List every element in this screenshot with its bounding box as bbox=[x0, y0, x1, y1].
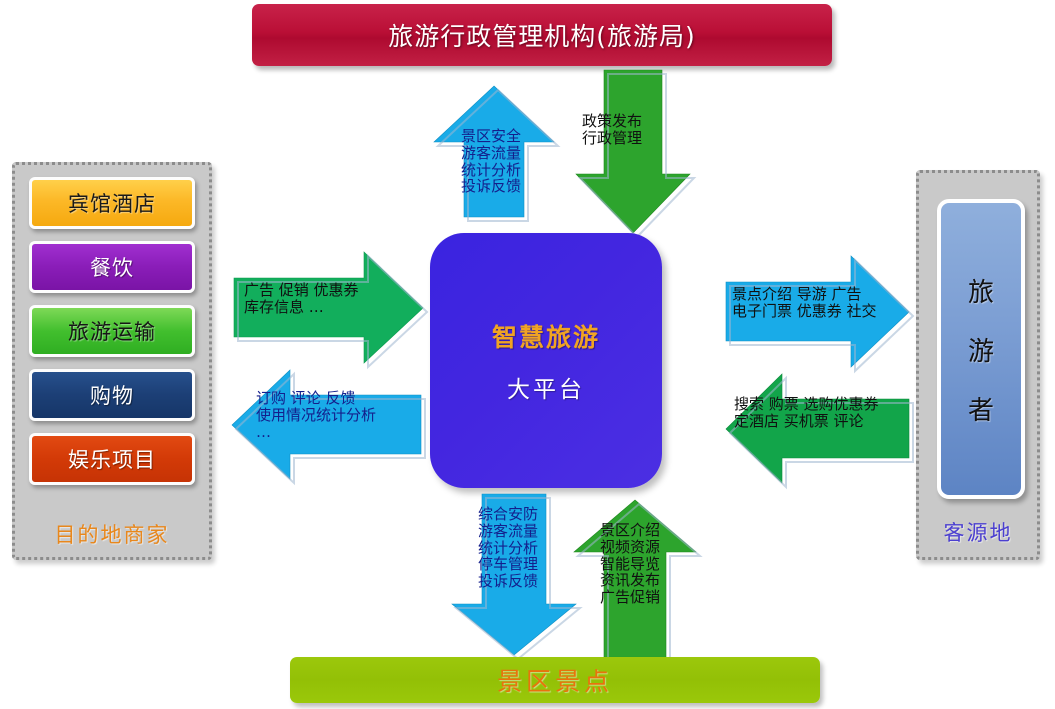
merchant-label: 旅游运输 bbox=[68, 316, 156, 346]
merchant-item-hotel[interactable]: 宾馆酒店 bbox=[29, 177, 195, 229]
flow-arrow-scenic-to-platform[interactable]: 景区介绍 视频资源 智能导览 资讯发布 广告促销 bbox=[572, 500, 698, 660]
flow-arrow-merchant-to-platform[interactable]: 广告 促销 优惠券 库存信息 … bbox=[234, 252, 424, 364]
merchant-label: 娱乐项目 bbox=[68, 444, 156, 474]
platform-title-line2: 大平台 bbox=[507, 370, 585, 404]
tourist-block[interactable]: 旅 游 者 bbox=[937, 199, 1025, 499]
tourist-char-1: 旅 bbox=[968, 272, 994, 309]
flow-label-platform-to-merchant: 订购 评论 反馈 使用情况统计分析 … bbox=[256, 390, 376, 440]
tourist-char-3: 者 bbox=[968, 390, 994, 427]
flow-text-lines: 订购 评论 反馈 使用情况统计分析 … bbox=[256, 389, 376, 441]
flow-label-scenic-to-bureau: 景区安全 游客流量 统计分析 投诉反馈 bbox=[461, 128, 521, 195]
source-market-caption: 客源地 bbox=[919, 517, 1037, 547]
merchant-item-transport[interactable]: 旅游运输 bbox=[29, 305, 195, 357]
flow-text-lines: 广告 促销 优惠券 库存信息 … bbox=[244, 281, 359, 316]
diagram-canvas: 旅游行政管理机构(旅游局) 景区安全 游客流量 统计分析 投诉反馈 政策发布 行… bbox=[0, 0, 1055, 709]
flow-arrow-bureau-to-platform[interactable]: 政策发布 行政管理 bbox=[576, 70, 692, 234]
flow-arrow-tourist-to-platform[interactable]: 搜索 购票 选购优惠券 定酒店 买机票 评论 bbox=[726, 374, 910, 484]
source-market-panel: 旅 游 者 客源地 bbox=[916, 170, 1040, 560]
flow-text-lines: 景区安全 游客流量 统计分析 投诉反馈 bbox=[461, 127, 521, 195]
flow-label-scenic-to-platform: 景区介绍 视频资源 智能导览 资讯发布 广告促销 bbox=[600, 522, 660, 606]
flow-text-lines: 综合安防 游客流量 统计分析 停车管理 投诉反馈 bbox=[478, 505, 538, 590]
flow-text-lines: 搜索 购票 选购优惠券 定酒店 买机票 评论 bbox=[734, 395, 879, 430]
flow-text-lines: 政策发布 行政管理 bbox=[582, 112, 642, 147]
flow-label-bureau-to-platform: 政策发布 行政管理 bbox=[582, 113, 642, 147]
merchant-item-shopping[interactable]: 购物 bbox=[29, 369, 195, 421]
flow-label-platform-to-tourist: 景点介绍 导游 广告 电子门票 优惠券 社交 bbox=[732, 286, 877, 320]
flow-arrow-platform-to-tourist[interactable]: 景点介绍 导游 广告 电子门票 优惠券 社交 bbox=[726, 256, 910, 368]
flow-arrow-platform-to-merchant[interactable]: 订购 评论 反馈 使用情况统计分析 … bbox=[232, 370, 422, 480]
flow-text-lines: 景区介绍 视频资源 智能导览 资讯发布 广告促销 bbox=[600, 521, 660, 606]
scenic-spots-label: 景区景点 bbox=[497, 662, 613, 698]
merchant-item-entertainment[interactable]: 娱乐项目 bbox=[29, 433, 195, 485]
destination-merchants-caption: 目的地商家 bbox=[15, 519, 209, 549]
smart-tourism-platform[interactable]: 智慧旅游 大平台 bbox=[430, 233, 662, 488]
flow-label-platform-to-scenic: 综合安防 游客流量 统计分析 停车管理 投诉反馈 bbox=[478, 506, 538, 590]
flow-label-merchant-to-platform: 广告 促销 优惠券 库存信息 … bbox=[244, 282, 359, 316]
flow-text-lines: 景点介绍 导游 广告 电子门票 优惠券 社交 bbox=[732, 285, 877, 320]
destination-merchants-panel: 宾馆酒店 餐饮 旅游运输 购物 娱乐项目 目的地商家 bbox=[12, 162, 212, 560]
merchant-label: 宾馆酒店 bbox=[68, 188, 156, 218]
merchant-label: 餐饮 bbox=[90, 252, 134, 282]
flow-arrow-scenic-to-bureau[interactable]: 景区安全 游客流量 统计分析 投诉反馈 bbox=[432, 86, 556, 218]
tourism-bureau-label: 旅游行政管理机构(旅游局) bbox=[388, 17, 696, 53]
flow-label-tourist-to-platform: 搜索 购票 选购优惠券 定酒店 买机票 评论 bbox=[734, 396, 879, 430]
platform-title-line1: 智慧旅游 bbox=[492, 318, 600, 354]
scenic-spots-banner[interactable]: 景区景点 bbox=[290, 657, 820, 703]
tourist-char-2: 游 bbox=[968, 331, 994, 368]
merchant-label: 购物 bbox=[90, 380, 134, 410]
tourism-bureau-banner[interactable]: 旅游行政管理机构(旅游局) bbox=[252, 4, 832, 66]
merchant-item-catering[interactable]: 餐饮 bbox=[29, 241, 195, 293]
flow-arrow-platform-to-scenic[interactable]: 综合安防 游客流量 统计分析 停车管理 投诉反馈 bbox=[452, 494, 580, 656]
